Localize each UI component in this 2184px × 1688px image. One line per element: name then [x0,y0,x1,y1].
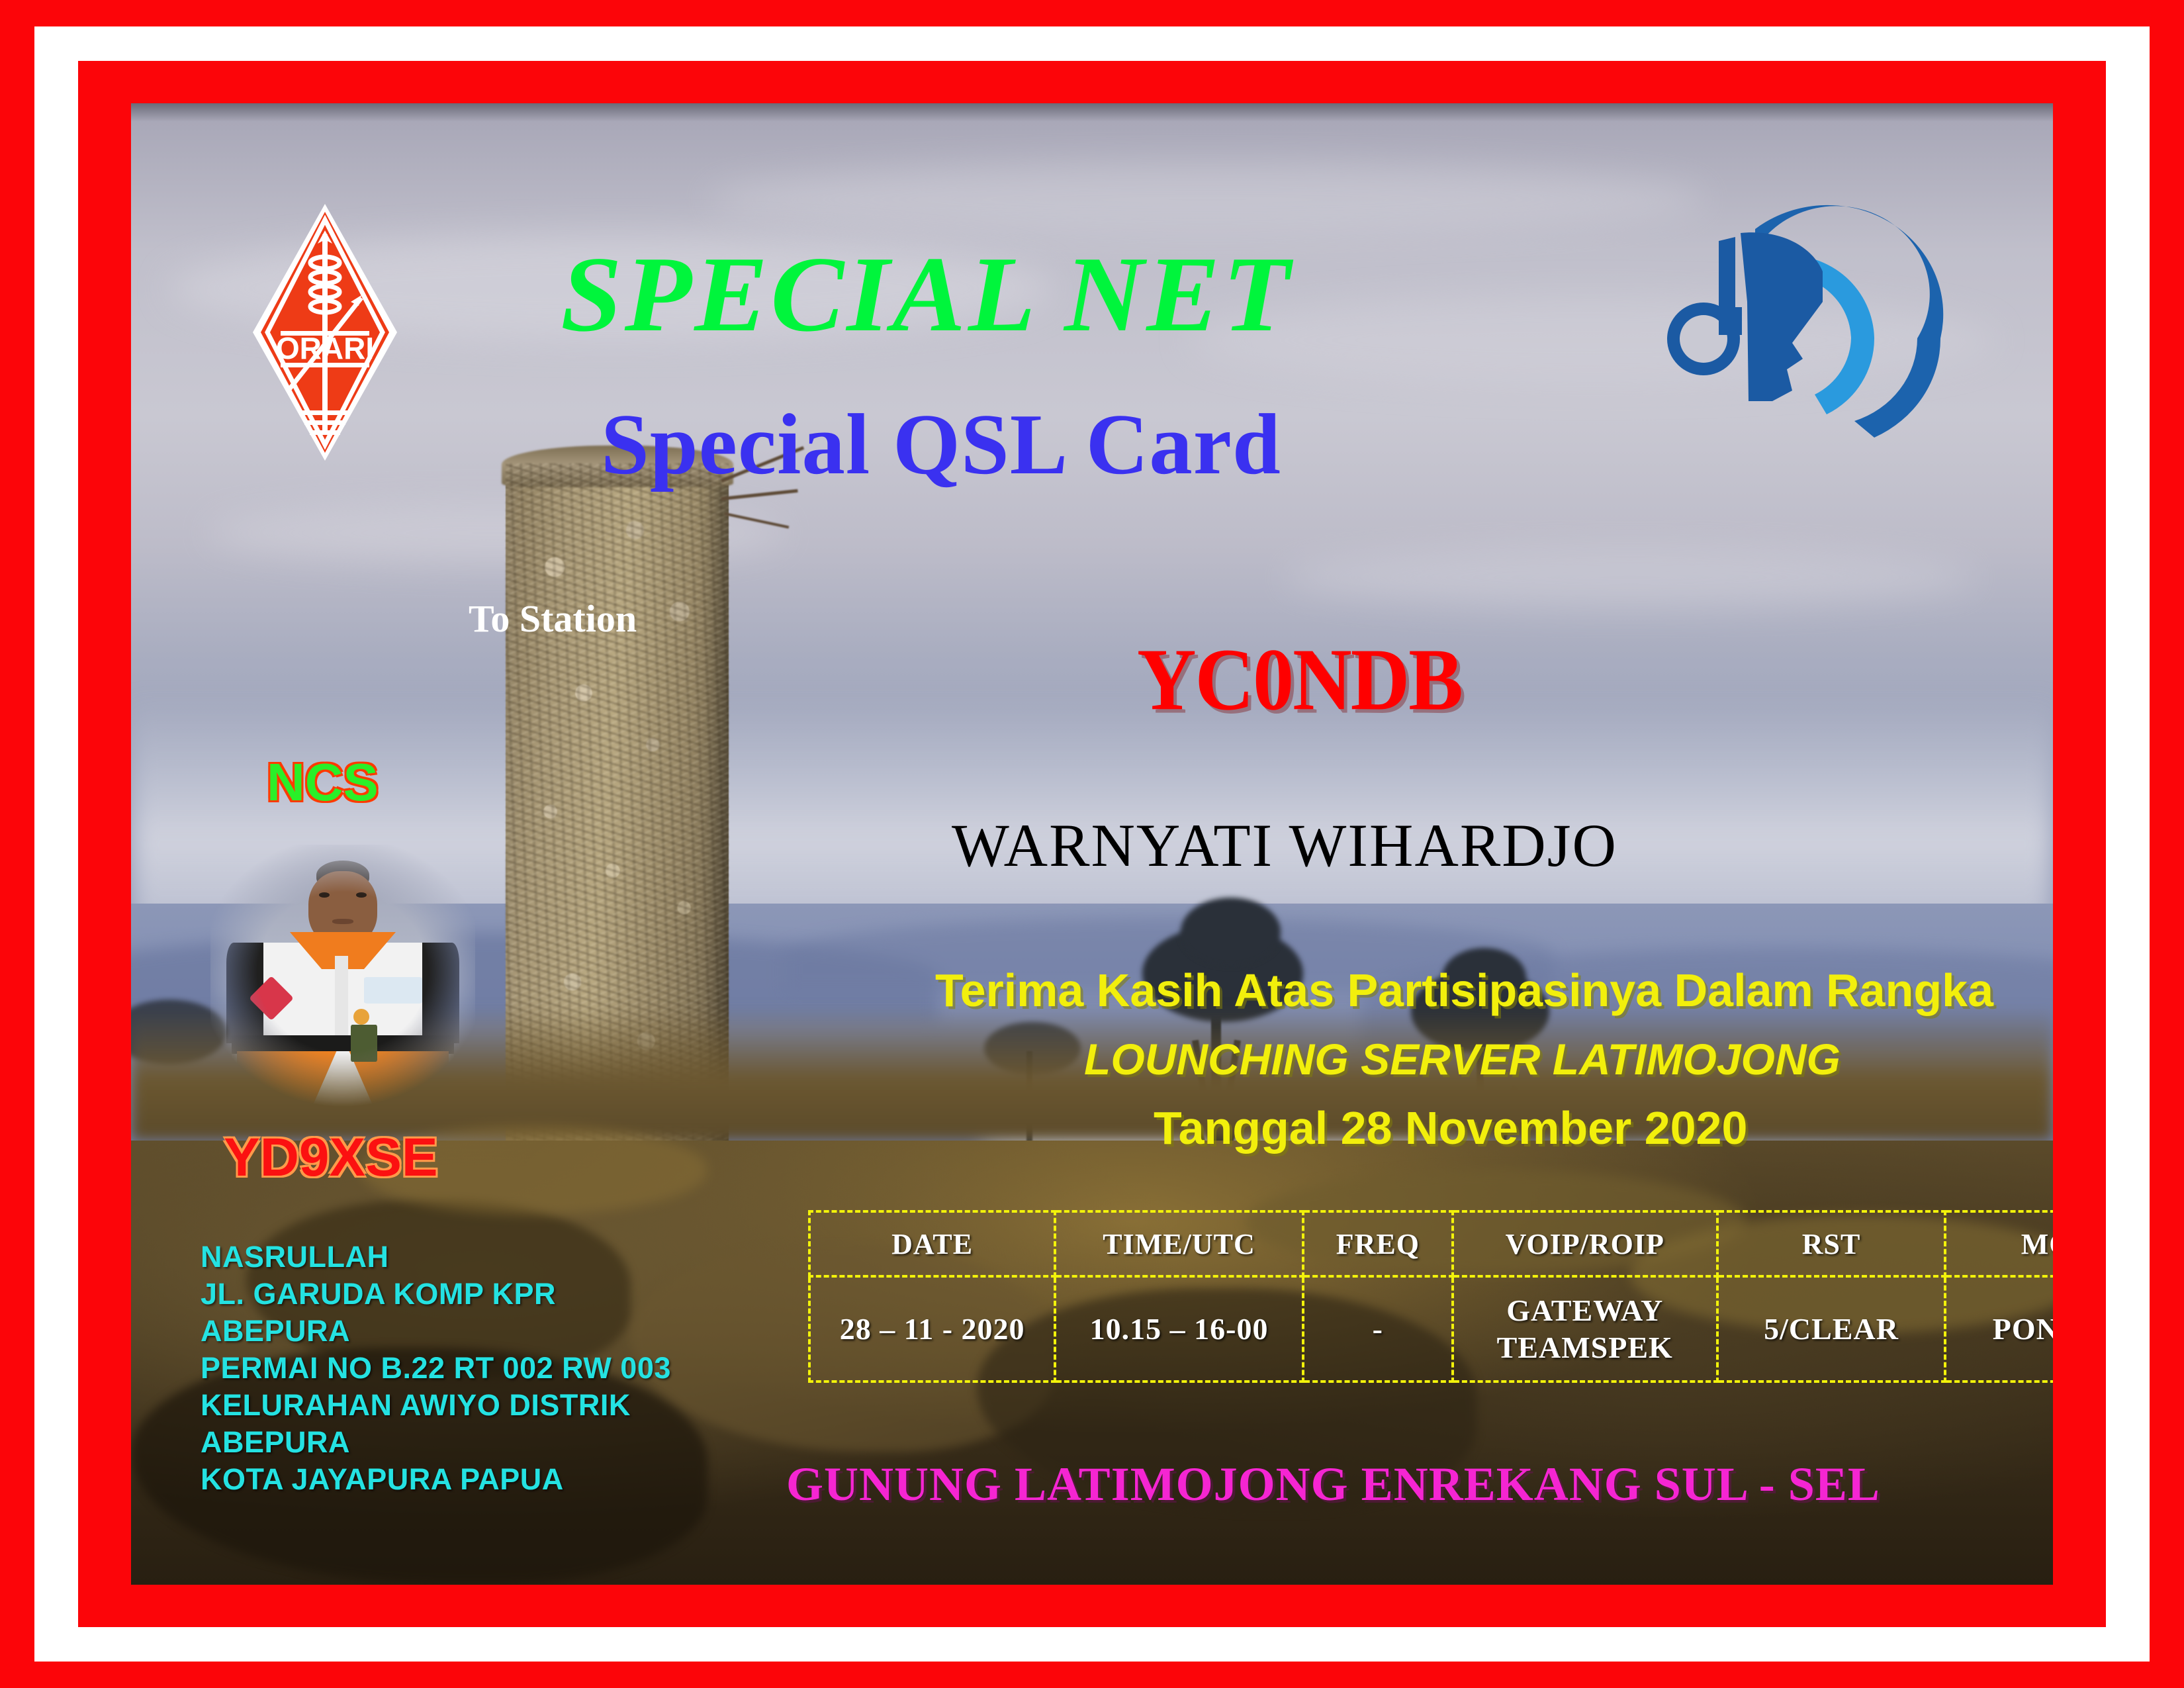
address-line: JL. GARUDA KOMP KPR [201,1276,671,1313]
postal-address-block: NASRULLAH JL. GARUDA KOMP KPR ABEPURA PE… [201,1239,671,1498]
cell-date: 28 – 11 - 2020 [809,1276,1055,1382]
cell-mode: PONE/CW [1945,1276,2053,1382]
card-inner-red-border: ORARI [78,61,2106,1627]
cell-voip-line1: GATEWAY [1454,1292,1716,1329]
header-date: DATE [809,1211,1055,1276]
thanks-line: Terima Kasih Atas Partisipasinya Dalam R… [935,964,1993,1017]
header-freq: FREQ [1303,1211,1453,1276]
page-title: SPECIAL NET [561,233,1293,357]
headphone-operator-logo [1656,203,1947,441]
address-line: PERMAI NO B.22 RT 002 RW 003 [201,1350,671,1387]
header-time: TIME/UTC [1055,1211,1303,1276]
cell-time: 10.15 – 16-00 [1055,1276,1303,1382]
address-line: ABEPURA [201,1424,671,1461]
event-date-line: Tanggal 28 November 2020 [1154,1102,1747,1154]
svg-text:ORARI: ORARI [276,331,374,365]
qso-table: DATE TIME/UTC FREQ VOIP/ROIP RST MODE 28… [808,1210,2053,1383]
cell-voip: GATEWAY TEAMSPEK [1453,1276,1717,1382]
address-line: NASRULLAH [201,1239,671,1276]
card-background-photo: ORARI [131,103,2053,1585]
page-subtitle: Special QSL Card [601,395,1281,494]
address-line: ABEPURA [201,1313,671,1350]
ncs-callsign: YD9XSE [224,1127,438,1189]
cell-freq: - [1303,1276,1453,1382]
station-callsign: YC0NDB [1137,629,1462,730]
operator-name: WARNYATI WIHARDJO [952,810,1617,880]
table-row: 28 – 11 - 2020 10.15 – 16-00 - GATEWAY T… [809,1276,2053,1382]
address-line: KOTA JAYAPURA PAPUA [201,1461,671,1498]
card-white-gap: ORARI [34,26,2150,1662]
address-line: KELURAHAN AWIYO DISTRIK [201,1387,671,1424]
orari-logo: ORARI [249,200,401,465]
cell-rst: 5/CLEAR [1717,1276,1946,1382]
header-rst: RST [1717,1211,1946,1276]
qsl-card: ORARI [0,0,2184,1688]
ncs-label: NCS [267,752,379,813]
location-line: GUNUNG LATIMOJONG ENREKANG SUL - SEL [786,1457,1880,1512]
header-mode: MODE [1945,1211,2053,1276]
event-line: LOUNCHING SERVER LATIMOJONG [1084,1034,1841,1084]
table-header-row: DATE TIME/UTC FREQ VOIP/ROIP RST MODE [809,1211,2053,1276]
cell-voip-line2: TEAMSPEK [1454,1329,1716,1366]
to-station-label: To Station [469,596,637,641]
header-voip: VOIP/ROIP [1453,1211,1717,1276]
operator-photo [210,845,475,1109]
